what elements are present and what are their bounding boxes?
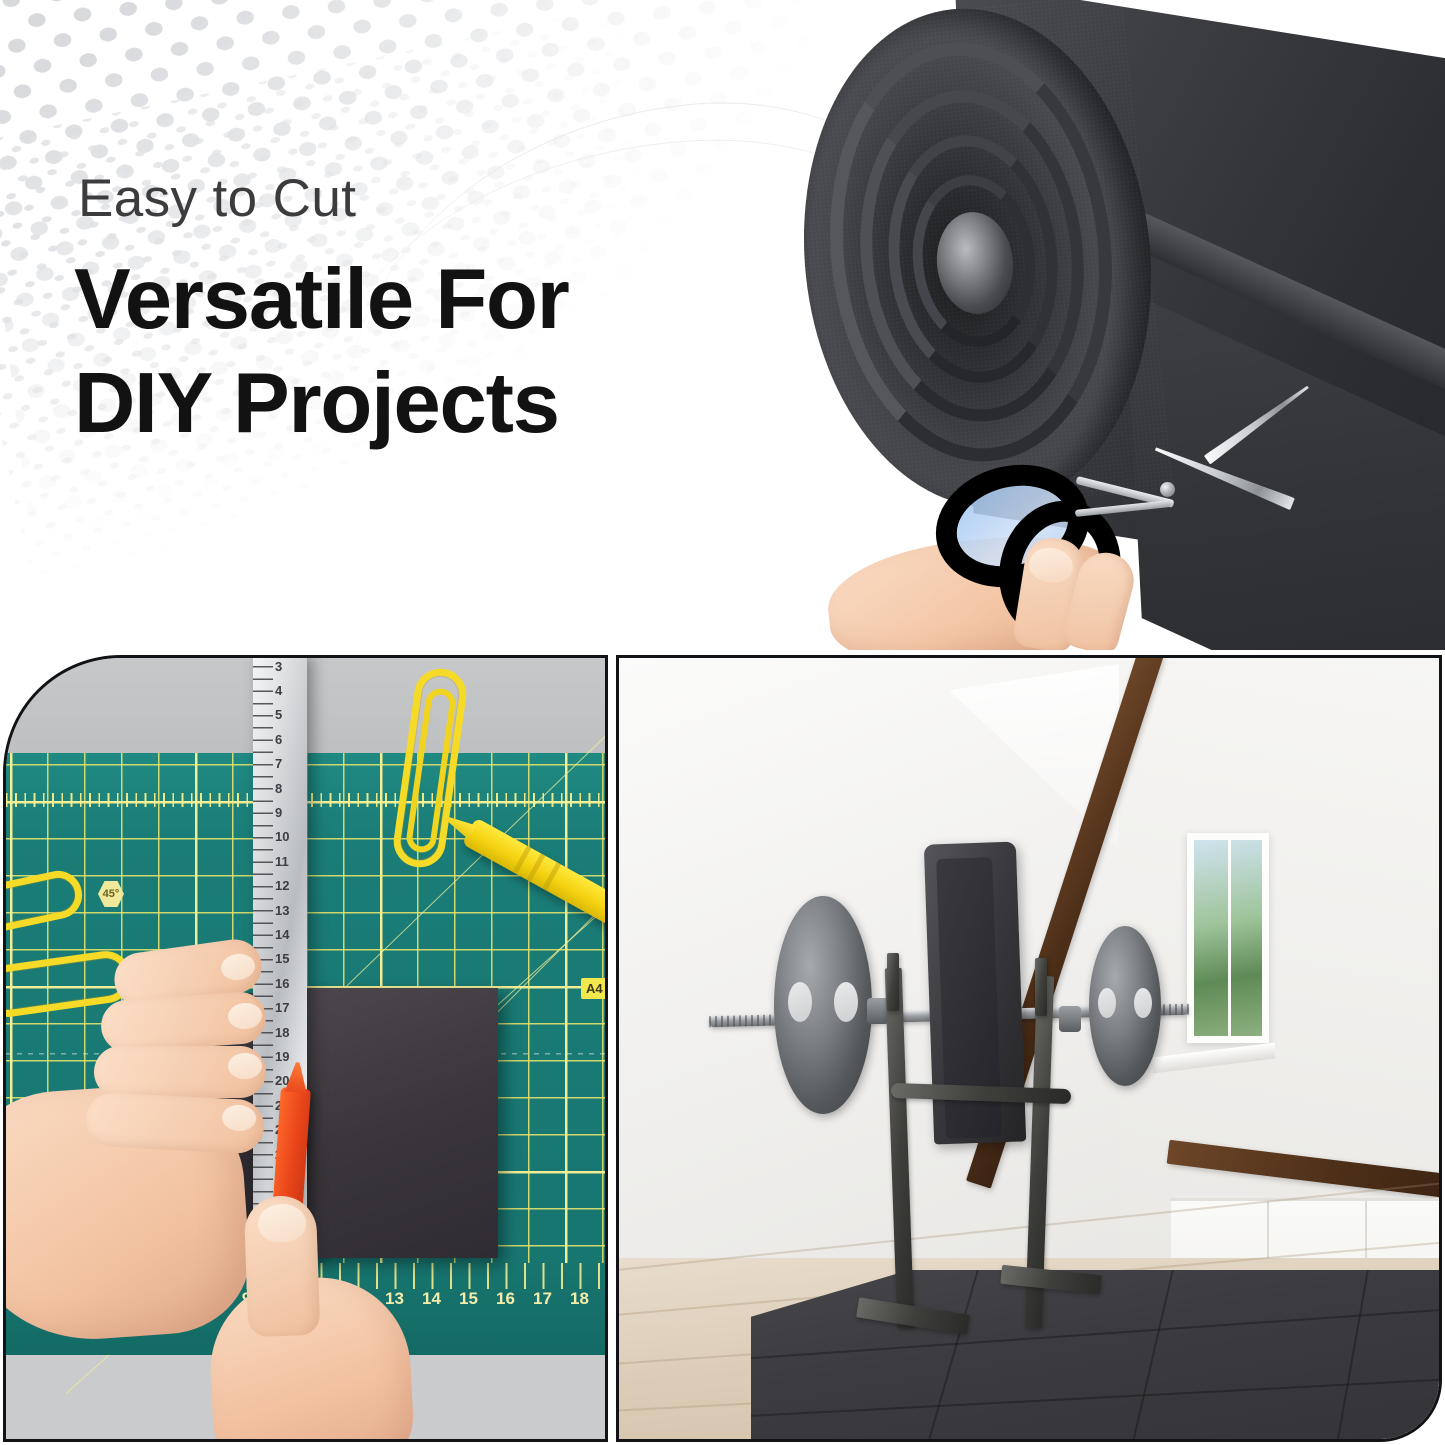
page-title: Versatile For DIY Projects xyxy=(74,248,569,455)
ruler-number: 16 xyxy=(487,1289,524,1323)
ruler-number-vertical: 19 xyxy=(275,1044,305,1068)
attic-window xyxy=(1187,833,1269,1043)
weight-plate-left xyxy=(774,896,872,1114)
plate-grip-hole-r2 xyxy=(1134,988,1152,1018)
eyebrow-text: Easy to Cut xyxy=(78,168,356,229)
ruler-number-vertical: 6 xyxy=(275,727,305,751)
ruler-number-vertical: 13 xyxy=(275,898,305,922)
rack-hook-left xyxy=(887,953,899,1011)
ruler-number: 15 xyxy=(450,1289,487,1323)
foam-floor-mat xyxy=(751,1270,1442,1442)
ruler-number-vertical: 14 xyxy=(275,922,305,946)
mat-label-a4: A4 xyxy=(581,978,608,999)
plate-grip-hole-r1 xyxy=(1098,988,1116,1018)
hero-banner: Easy to Cut Versatile For DIY Projects xyxy=(0,0,1445,650)
ruler-number: 19 xyxy=(598,1289,608,1323)
left-hand-nail-3 xyxy=(228,1053,262,1079)
panel-divider xyxy=(608,652,616,1445)
ruler-number-vertical: 15 xyxy=(275,947,305,971)
weight-plate-right xyxy=(1089,926,1161,1086)
ruler-number-vertical: 17 xyxy=(275,995,305,1019)
ruler-number-vertical: 4 xyxy=(275,678,305,702)
ruler-number: 17 xyxy=(524,1289,561,1323)
product-feature-image: Easy to Cut Versatile For DIY Projects xyxy=(0,0,1445,1445)
barbell-collar-right xyxy=(1059,1006,1081,1032)
scissor-pivot-screw xyxy=(1160,482,1175,497)
ruler-number-vertical: 16 xyxy=(275,971,305,995)
ruler-number-vertical: 18 xyxy=(275,1020,305,1044)
ruler-number-vertical: 12 xyxy=(275,874,305,898)
ruler-number-vertical: 7 xyxy=(275,752,305,776)
panel-measuring-foam: 45° 45° A4 A5 34567891011121314151617181… xyxy=(3,655,608,1442)
ruler-number-vertical: 10 xyxy=(275,825,305,849)
ruler-number: 14 xyxy=(413,1289,450,1323)
ruler-number: 18 xyxy=(561,1289,598,1323)
plate-grip-hole-l1 xyxy=(788,982,812,1022)
foam-sheet-main xyxy=(298,988,498,1258)
panel-home-gym xyxy=(616,655,1442,1442)
ruler-number-vertical: 11 xyxy=(275,849,305,873)
ruler-number-vertical: 8 xyxy=(275,776,305,800)
rack-hook-right xyxy=(1035,958,1047,1016)
ruler-number-vertical: 5 xyxy=(275,703,305,727)
ruler-number-vertical: 3 xyxy=(275,655,305,678)
plate-grip-hole-l2 xyxy=(834,982,858,1022)
right-hand-fingernail xyxy=(257,1203,306,1243)
ruler-number-vertical: 9 xyxy=(275,800,305,824)
